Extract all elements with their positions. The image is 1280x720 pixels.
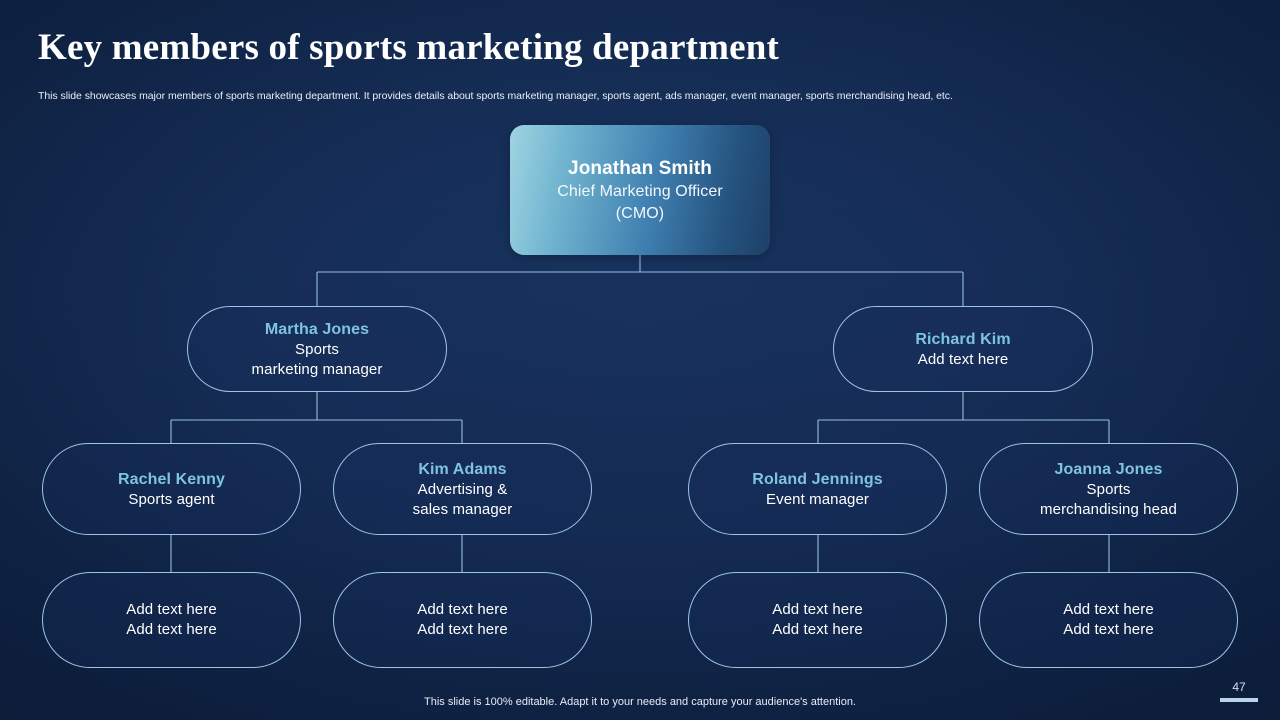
org-node-joanna-jones-role-1: Sports	[1087, 480, 1131, 500]
page-number-rule	[1220, 698, 1258, 702]
org-node-kim-adams-role-1: Advertising &	[418, 480, 508, 500]
org-node-placeholder-2[interactable]: Add text here Add text here	[333, 572, 592, 668]
org-node-placeholder-4[interactable]: Add text here Add text here	[979, 572, 1238, 668]
footer-note: This slide is 100% editable. Adapt it to…	[0, 696, 1280, 708]
org-node-root-name: Jonathan Smith	[568, 156, 712, 181]
org-node-placeholder-4-line-1: Add text here	[1063, 600, 1154, 620]
org-node-placeholder-1-line-1: Add text here	[126, 600, 217, 620]
org-node-placeholder-3-line-2: Add text here	[772, 620, 863, 640]
org-node-kim-adams-role-2: sales manager	[413, 500, 513, 520]
org-node-placeholder-3[interactable]: Add text here Add text here	[688, 572, 947, 668]
org-node-placeholder-1[interactable]: Add text here Add text here	[42, 572, 301, 668]
org-node-placeholder-2-line-1: Add text here	[417, 600, 508, 620]
org-node-martha-jones-name: Martha Jones	[265, 319, 369, 340]
page-title: Key members of sports marketing departme…	[38, 26, 779, 69]
org-node-root[interactable]: Jonathan Smith Chief Marketing Officer (…	[510, 125, 770, 255]
org-node-kim-adams[interactable]: Kim Adams Advertising & sales manager	[333, 443, 592, 535]
slide-canvas: Key members of sports marketing departme…	[0, 0, 1280, 720]
org-node-rachel-kenny[interactable]: Rachel Kenny Sports agent	[42, 443, 301, 535]
org-node-roland-jennings-name: Roland Jennings	[752, 469, 882, 490]
org-node-root-role-2: (CMO)	[616, 203, 664, 224]
org-node-roland-jennings-role-1: Event manager	[766, 490, 869, 510]
page-number: 47	[1220, 680, 1258, 694]
org-node-martha-jones-role-1: Sports	[295, 340, 339, 360]
org-node-placeholder-4-line-2: Add text here	[1063, 620, 1154, 640]
org-node-joanna-jones[interactable]: Joanna Jones Sports merchandising head	[979, 443, 1238, 535]
org-node-placeholder-1-line-2: Add text here	[126, 620, 217, 640]
org-node-placeholder-2-line-2: Add text here	[417, 620, 508, 640]
org-node-rachel-kenny-name: Rachel Kenny	[118, 469, 225, 490]
org-node-rachel-kenny-role-1: Sports agent	[128, 490, 214, 510]
org-node-joanna-jones-role-2: merchandising head	[1040, 500, 1177, 520]
org-node-roland-jennings[interactable]: Roland Jennings Event manager	[688, 443, 947, 535]
org-node-richard-kim-name: Richard Kim	[915, 329, 1010, 350]
org-node-joanna-jones-name: Joanna Jones	[1055, 459, 1163, 480]
org-node-kim-adams-name: Kim Adams	[418, 459, 506, 480]
org-node-placeholder-3-line-1: Add text here	[772, 600, 863, 620]
page-subtitle: This slide showcases major members of sp…	[38, 90, 953, 102]
org-node-richard-kim[interactable]: Richard Kim Add text here	[833, 306, 1093, 392]
org-node-root-role-1: Chief Marketing Officer	[557, 181, 723, 202]
org-node-martha-jones-role-2: marketing manager	[252, 360, 383, 380]
org-node-richard-kim-role-1: Add text here	[918, 350, 1009, 370]
org-node-martha-jones[interactable]: Martha Jones Sports marketing manager	[187, 306, 447, 392]
